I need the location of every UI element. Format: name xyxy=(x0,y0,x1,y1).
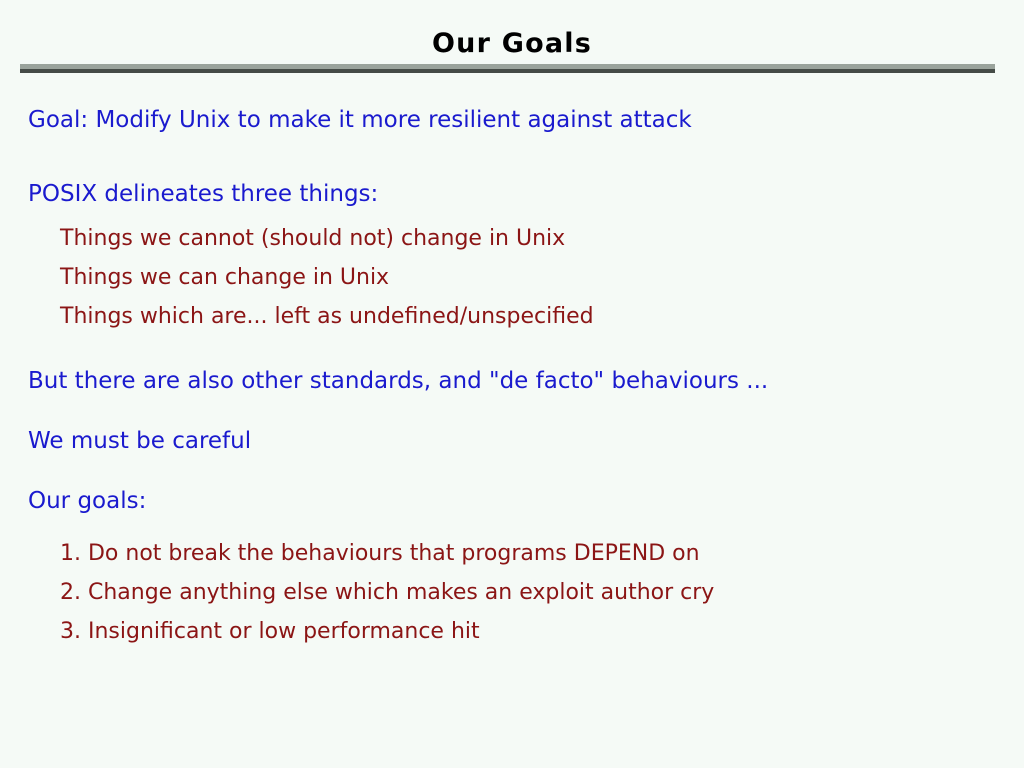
spacer xyxy=(0,396,1024,426)
posix-item-list: Things we cannot (should not) change in … xyxy=(0,219,1024,336)
our-goals-heading: Our goals: xyxy=(28,486,1024,516)
spacer xyxy=(0,456,1024,486)
slide-body: Goal: Modify Unix to make it more resili… xyxy=(0,105,1024,651)
be-careful-statement: We must be careful xyxy=(28,426,1024,456)
list-item: 1. Do not break the behaviours that prog… xyxy=(60,534,1024,573)
title-divider xyxy=(20,64,995,73)
posix-heading: POSIX delineates three things: xyxy=(28,179,1024,209)
other-standards-statement: But there are also other standards, and … xyxy=(28,366,1024,396)
list-item: Things we cannot (should not) change in … xyxy=(60,219,1024,258)
spacer xyxy=(0,135,1024,179)
list-item: Things we can change in Unix xyxy=(60,258,1024,297)
divider-band-dark xyxy=(20,69,995,73)
spacer xyxy=(0,336,1024,366)
list-item: Things which are... left as undefined/un… xyxy=(60,297,1024,336)
slide: Our Goals Goal: Modify Unix to make it m… xyxy=(0,0,1024,768)
list-item: 2. Change anything else which makes an e… xyxy=(60,573,1024,612)
goals-item-list: 1. Do not break the behaviours that prog… xyxy=(0,534,1024,651)
goal-statement: Goal: Modify Unix to make it more resili… xyxy=(28,105,1024,135)
spacer xyxy=(0,516,1024,534)
page-title: Our Goals xyxy=(0,28,1024,60)
spacer xyxy=(0,209,1024,219)
list-item: 3. Insignificant or low performance hit xyxy=(60,612,1024,651)
